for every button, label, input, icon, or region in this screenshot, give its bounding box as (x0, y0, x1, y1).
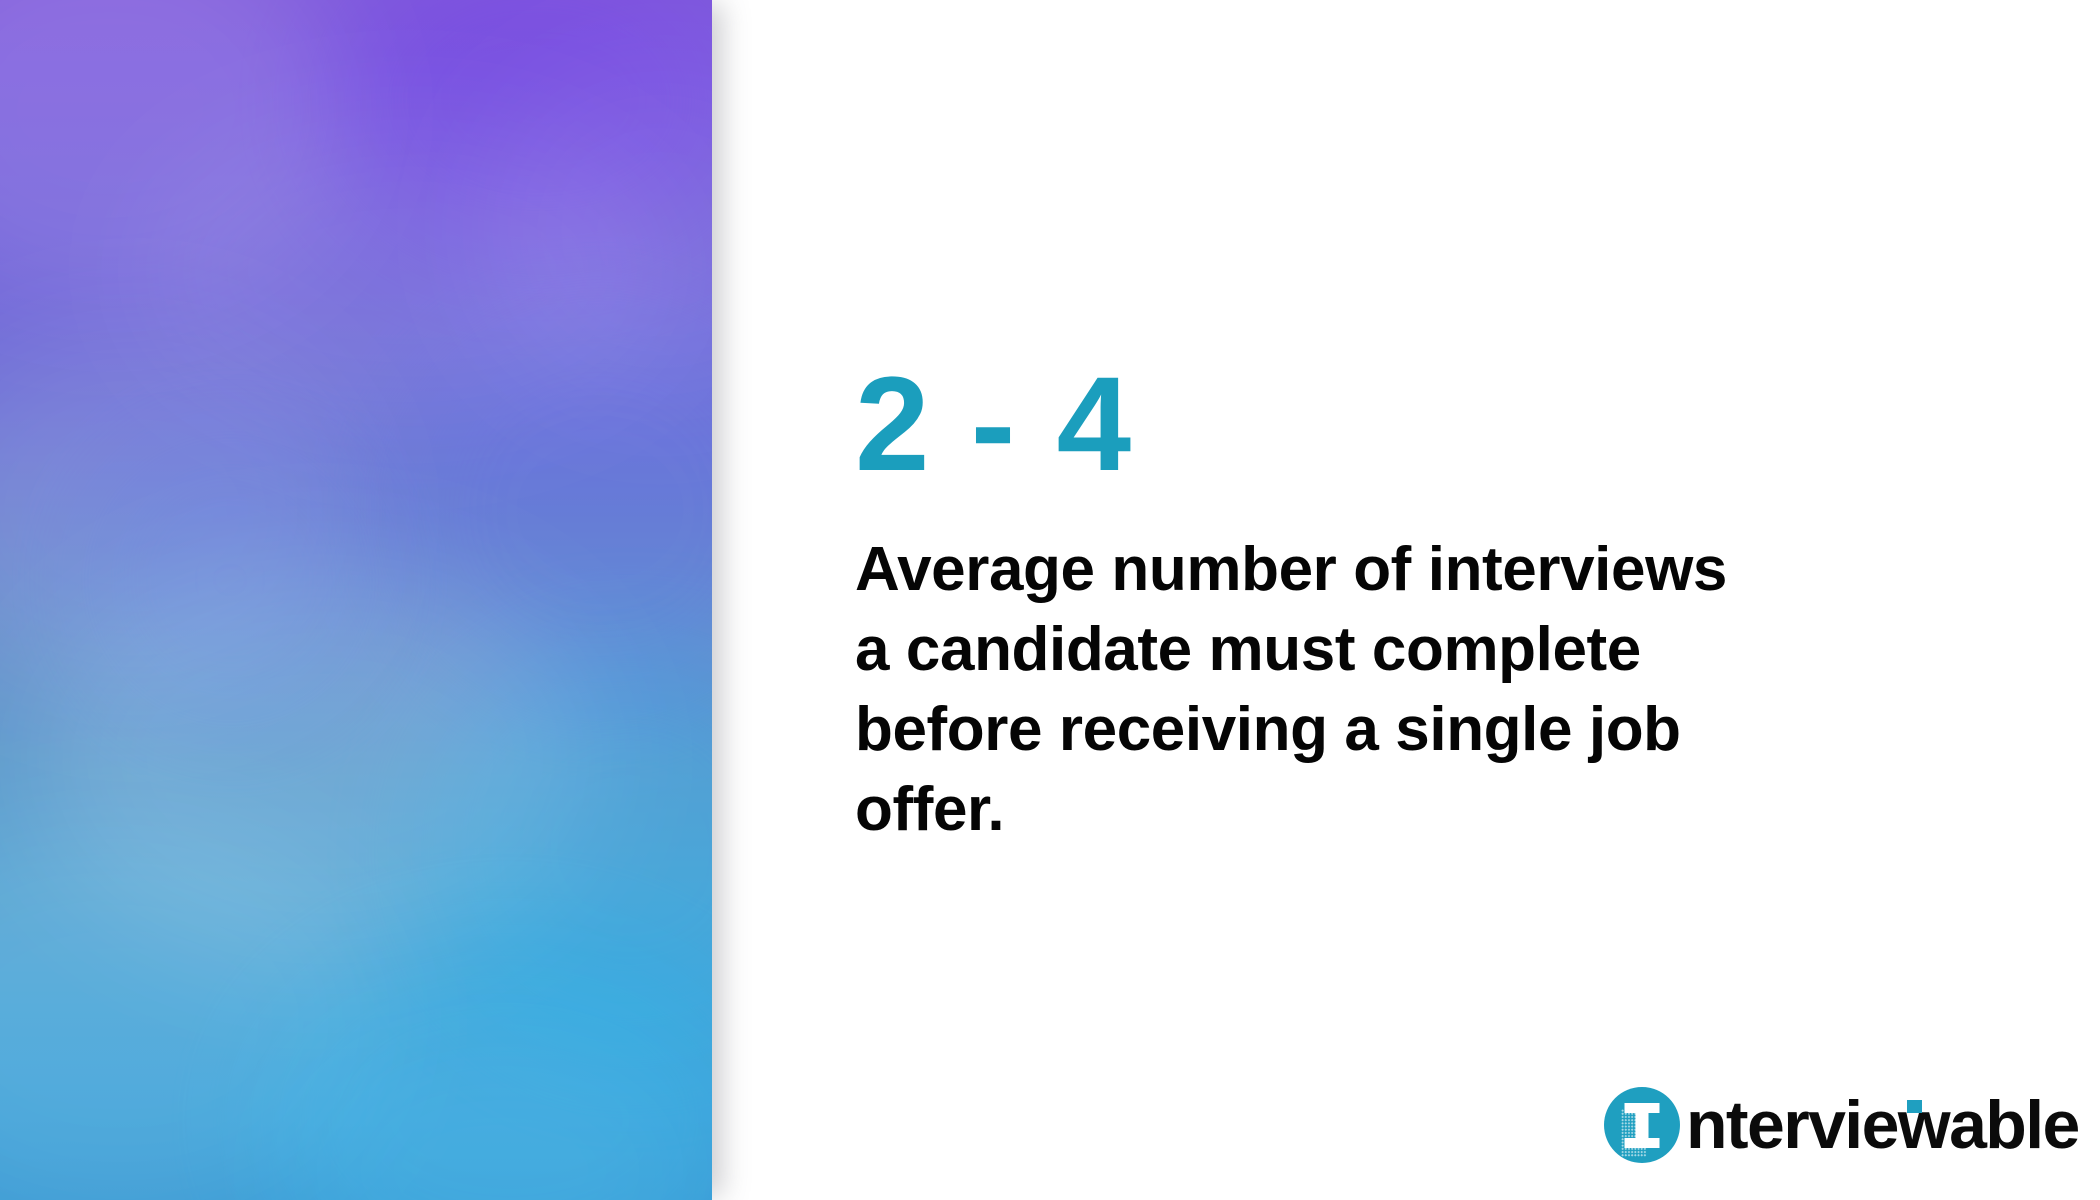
content-panel: 2 - 4 Average number of interviews a can… (712, 0, 2100, 1200)
brand-wordmark: nterviewable (1686, 1087, 2079, 1163)
brand-logo: nterviewable (1604, 1082, 2079, 1168)
stat-description-line: a candidate must complete (855, 610, 1935, 690)
gradient-blob (80, 430, 380, 730)
letter-i-serif-bottom (1625, 1138, 1660, 1148)
stat-value: 2 - 4 (855, 358, 1133, 492)
stat-slide: 2 - 4 Average number of interviews a can… (0, 0, 2100, 1200)
stat-description-line: before receiving a single job (855, 690, 1935, 770)
wordmark-dot-icon (1907, 1100, 1922, 1113)
media-panel (0, 0, 712, 1200)
stat-description: Average number of interviews a candidate… (855, 530, 1935, 850)
brand-wordmark-text: nterviewable (1686, 1087, 2079, 1163)
stat-description-line: Average number of interviews (855, 530, 1935, 610)
interviewable-circle-icon (1604, 1087, 1680, 1163)
stat-description-line: offer. (855, 770, 1935, 850)
letter-i-serif-top (1625, 1103, 1660, 1113)
